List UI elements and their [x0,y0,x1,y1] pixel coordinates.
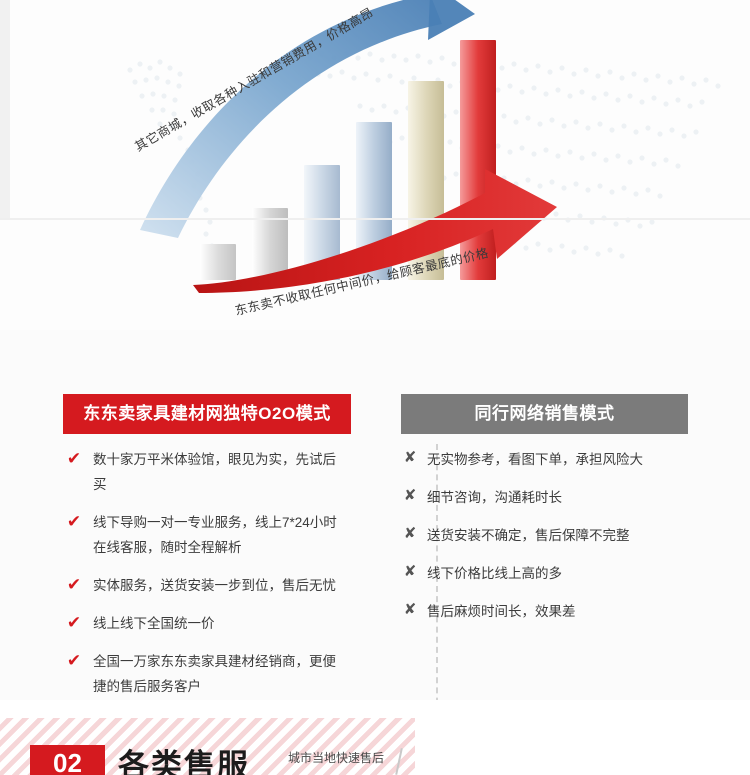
list-item: ✔ 实体服务，送货安装一步到位，售后无忧 [63,573,363,598]
list-item: ✘ 售后麻烦时间长，效果差 [401,599,688,624]
peer-model-title: 同行网络销售模式 [401,394,688,434]
list-item-label: 细节咨询，沟通耗时长 [427,485,677,510]
list-item: ✔ 线下导购一对一专业服务，线上7*24小时在线客服，随时全程解析 [63,510,363,560]
section-subheading: 城市当地快速售后 [288,750,408,767]
hero-bottom-divider [0,218,750,220]
list-item: ✘ 送货安装不确定，售后保障不完整 [401,523,688,548]
list-item: ✔ 全国一万家东东卖家具建材经销商，更便捷的售后服务客户 [63,649,363,699]
list-item-label: 数十家万平米体验馆，眼见为实，先试后买 [93,447,345,497]
column-peer-model: 同行网络销售模式 ✘ 无实物参考，看图下单，承担风险大 ✘ 细节咨询，沟通耗时长… [401,394,688,624]
check-icon: ✔ [63,510,85,532]
bottom-white-panel [415,718,750,775]
cross-icon: ✘ [401,447,419,466]
check-icon: ✔ [63,611,85,633]
bottom-white-gap [0,700,750,718]
list-item-label: 线上线下全国统一价 [93,611,345,636]
cross-icon: ✘ [401,599,419,618]
list-item: ✘ 无实物参考，看图下单，承担风险大 [401,447,688,472]
check-icon: ✔ [63,573,85,595]
list-item-label: 售后麻烦时间长，效果差 [427,599,677,624]
comparison-section: 东东卖家具建材网独特O2O模式 ✔ 数十家万平米体验馆，眼见为实，先试后买 ✔ … [0,330,750,700]
section-heading-text: 各类 [118,748,184,775]
cross-icon: ✘ [401,485,419,504]
page-root: 其它商城，收取各种入驻和营销费用，价格高昂 东东卖不收取任何中间价，给顾客最底的… [0,0,750,775]
hero-section: 其它商城，收取各种入驻和营销费用，价格高昂 东东卖不收取任何中间价，给顾客最底的… [0,0,750,330]
list-item-label: 送货安装不确定，售后保障不完整 [427,523,677,548]
list-item: ✘ 线下价格比线上高的多 [401,561,688,586]
own-model-title: 东东卖家具建材网独特O2O模式 [63,394,351,434]
section-subheading-line1: 城市当地快速售后 [288,750,408,767]
list-item-label: 全国一万家东东卖家具建材经销商，更便捷的售后服务客户 [93,649,345,699]
list-item-label: 实体服务，送货安装一步到位，售后无忧 [93,573,345,598]
section-number-badge: 02 [30,745,105,775]
check-icon: ✔ [63,649,85,671]
list-item-label: 线下价格比线上高的多 [427,561,677,586]
list-item-label: 线下导购一对一专业服务，线上7*24小时在线客服，随时全程解析 [93,510,345,560]
list-item: ✘ 细节咨询，沟通耗时长 [401,485,688,510]
cross-icon: ✘ [401,523,419,542]
list-item-label: 无实物参考，看图下单，承担风险大 [427,447,677,472]
check-icon: ✔ [63,447,85,469]
list-item: ✔ 数十家万平米体验馆，眼见为实，先试后买 [63,447,363,497]
left-edge-band [0,0,10,218]
section-heading-text-rest: 售服 [184,748,250,775]
column-own-model: 东东卖家具建材网独特O2O模式 ✔ 数十家万平米体验馆，眼见为实，先试后买 ✔ … [63,394,363,699]
section-heading: 各类售服 [118,740,250,775]
list-item: ✔ 线上线下全国统一价 [63,611,363,636]
cross-icon: ✘ [401,561,419,580]
